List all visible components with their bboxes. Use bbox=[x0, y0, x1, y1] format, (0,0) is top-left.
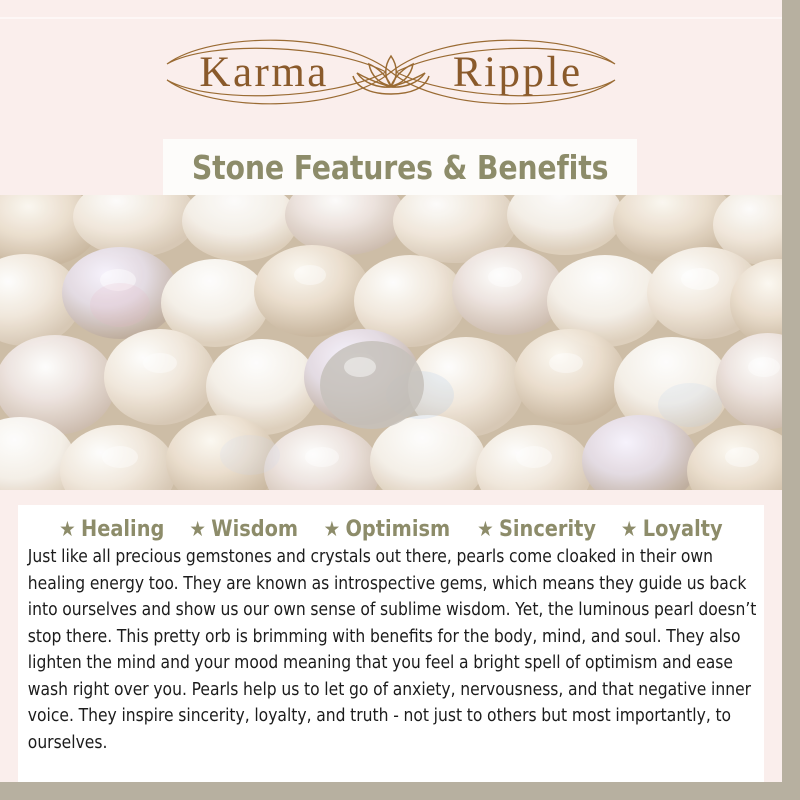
pearls-photo-image bbox=[0, 195, 782, 490]
brand-logo[interactable]: Karma Ripple bbox=[0, 28, 782, 116]
poster-inner-card: Karma Ripple Stone Features & Benefits bbox=[0, 0, 782, 782]
star-icon: ★ bbox=[621, 519, 638, 540]
keyword-item-sincerity: ★ Sincerity bbox=[477, 517, 596, 542]
logo-flourish-icon bbox=[81, 28, 701, 116]
keyword-label: Optimism bbox=[346, 517, 451, 542]
photo-bottom-strip bbox=[0, 490, 782, 505]
star-icon: ★ bbox=[189, 519, 206, 540]
pearls-photo: Pearl bbox=[0, 195, 782, 490]
keyword-item-wisdom: ★ Wisdom bbox=[189, 517, 298, 542]
keyword-label: Sincerity bbox=[499, 517, 596, 542]
content-panel: ★ Healing ★ Wisdom ★ Optimism ★ Sincerit… bbox=[18, 505, 764, 782]
keyword-label: Loyalty bbox=[643, 517, 723, 542]
page-title: Stone Features & Benefits bbox=[192, 148, 608, 187]
section-title-band: Stone Features & Benefits bbox=[163, 139, 637, 195]
star-icon: ★ bbox=[324, 519, 341, 540]
frame-seam bbox=[0, 17, 782, 19]
description-paragraph: Just like all precious gemstones and cry… bbox=[26, 544, 761, 756]
keyword-label: Healing bbox=[81, 517, 164, 542]
keyword-item-optimism: ★ Optimism bbox=[324, 517, 451, 542]
star-icon: ★ bbox=[59, 519, 76, 540]
keyword-item-loyalty: ★ Loyalty bbox=[621, 517, 723, 542]
star-icon: ★ bbox=[477, 519, 494, 540]
keyword-item-healing: ★ Healing bbox=[59, 517, 164, 542]
keyword-list: ★ Healing ★ Wisdom ★ Optimism ★ Sincerit… bbox=[26, 517, 756, 542]
keyword-label: Wisdom bbox=[211, 517, 298, 542]
poster-root: Karma Ripple Stone Features & Benefits bbox=[0, 0, 800, 800]
